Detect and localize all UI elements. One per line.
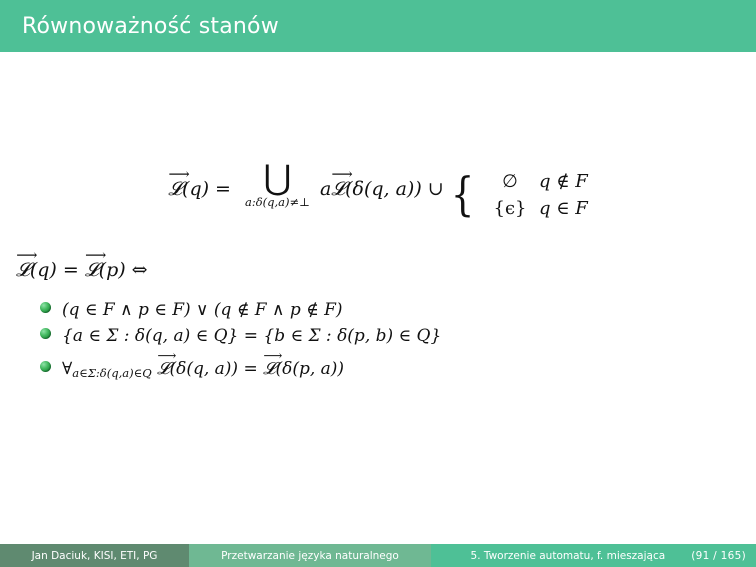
footer-subject-label: Przetwarzanie języka naturalnego [221,550,399,562]
over-arrow-icon: ⟶ [85,249,106,264]
footer-page-number: (91 / 165) [691,550,746,562]
equivalence-left-args: (q) = [30,259,79,281]
equivalence-equation: ⟶𝓛(q) = ⟶𝓛(p) ⇔ [16,257,148,281]
case-condition: q ∉ F [539,168,588,195]
equation-rhs-prefix: a [320,178,331,200]
cases-row: ∅ q ∉ F [481,168,588,195]
equation-lhs-args: (q) = [182,178,231,200]
equation-rhs-args: (δ(q, a)) ∪ [345,178,444,200]
list-item-label: ∀a∈Σ:δ(q,a)∈Q ⟶𝓛(δ(q, a)) = ⟶𝓛(δ(p, a)) [62,357,344,381]
vector-L-symbol: ⟶𝓛 [168,176,182,200]
vector-L-symbol: ⟶𝓛 [331,176,345,200]
bullet-list: (q ∈ F ∧ p ∈ F) ∨ (q ∉ F ∧ p ∉ F) {a ∈ Σ… [40,300,740,385]
footer-section-label: 5. Tworzenie automatu, f. mieszająca [471,550,666,562]
footer-author-label: Jan Daciuk, KISI, ETI, PG [32,550,158,562]
equation-rhs: a⟶𝓛(δ(q, a)) ∪ [320,162,444,200]
page-title: Równoważność stanów [0,14,279,39]
union-subscript: a:δ(q,a)≠⊥ [245,195,310,209]
over-arrow-icon: ⟶ [168,168,189,183]
big-union-operator: ⋃ a:δ(q,a)≠⊥ [245,162,310,209]
over-arrow-icon: ⟶ [16,249,37,264]
footer-subject: Przetwarzanie języka naturalnego [189,544,431,567]
bullet-ball-icon [40,302,51,313]
bullet-left-args: (δ(q, a)) = [169,359,257,379]
list-item: (q ∈ F ∧ p ∈ F) ∨ (q ∉ F ∧ p ∉ F) [40,300,740,321]
vector-L-symbol: ⟶𝓛 [85,257,99,281]
slide-footer: Jan Daciuk, KISI, ETI, PG Przetwarzanie … [0,544,756,567]
case-value: {ϵ} [481,195,539,222]
left-brace-icon: { [451,178,474,211]
slide-body: ⟶𝓛(q) = ⋃ a:δ(q,a)≠⊥ a⟶𝓛(δ(q, a)) ∪ { ∅ … [0,52,756,537]
slide-header: Równoważność stanów [0,0,756,52]
list-item-label: {a ∈ Σ : δ(q, a) ∈ Q} = {b ∈ Σ : δ(p, b)… [62,326,441,347]
bullet-right-args: (δ(p, a)) [275,359,344,379]
vector-L-symbol: ⟶𝓛 [16,257,30,281]
bullet-ball-icon [40,328,51,339]
vector-L-symbol: ⟶𝓛 [263,357,275,380]
list-item: {a ∈ Σ : δ(q, a) ∈ Q} = {b ∈ Σ : δ(p, b)… [40,326,740,347]
equation-lhs: ⟶𝓛(q) = [168,162,231,200]
footer-author: Jan Daciuk, KISI, ETI, PG [0,544,189,567]
over-arrow-icon: ⟶ [332,168,353,183]
list-item-label: (q ∈ F ∧ p ∈ F) ∨ (q ∉ F ∧ p ∉ F) [62,300,343,321]
forall-icon: ∀ [62,359,72,379]
display-equation: ⟶𝓛(q) = ⋃ a:δ(q,a)≠⊥ a⟶𝓛(δ(q, a)) ∪ { ∅ … [0,162,756,222]
vector-L-symbol: ⟶𝓛 [157,357,169,380]
over-arrow-icon: ⟶ [157,350,175,363]
list-item: ∀a∈Σ:δ(q,a)∈Q ⟶𝓛(δ(q, a)) = ⟶𝓛(δ(p, a)) [40,357,740,381]
forall-subscript: a∈Σ:δ(q,a)∈Q [72,366,151,380]
over-arrow-icon: ⟶ [263,350,281,363]
case-condition: q ∈ F [539,195,588,222]
footer-section: 5. Tworzenie automatu, f. mieszająca (91… [431,544,756,567]
union-glyph: ⋃ [264,162,292,194]
case-value: ∅ [481,168,539,195]
cases-row: {ϵ} q ∈ F [481,195,588,222]
bullet-ball-icon [40,361,51,372]
cases-block: { ∅ q ∉ F {ϵ} q ∈ F [444,162,588,222]
